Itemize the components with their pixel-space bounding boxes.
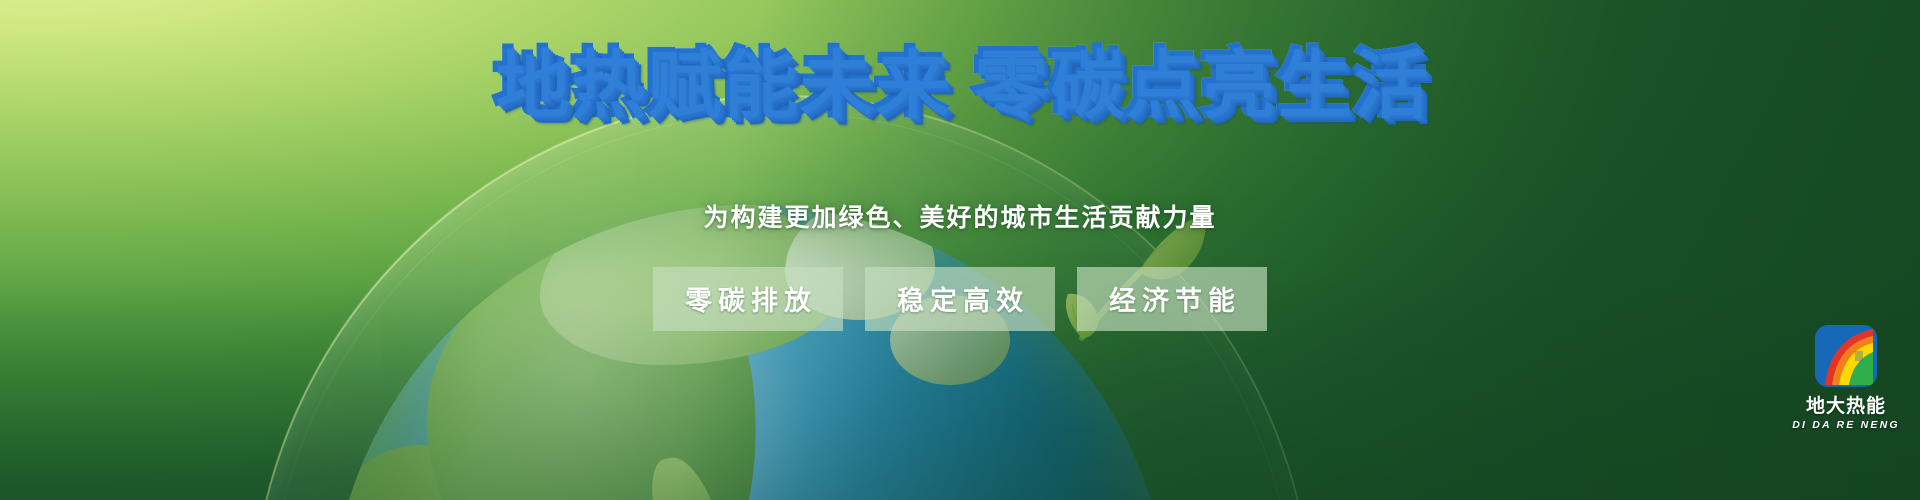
banner: 地热赋能未来 零碳点亮生活 为构建更加绿色、美好的城市生活贡献力量 零碳排放 稳… — [0, 0, 1920, 500]
page-subtitle: 为构建更加绿色、美好的城市生活贡献力量 — [0, 198, 1920, 234]
page-title: 地热赋能未来 零碳点亮生活 — [0, 46, 1920, 120]
logo-name-en: DI DA RE NENG — [1786, 419, 1906, 431]
company-logo[interactable]: 地大热能 DI DA RE NENG — [1786, 325, 1906, 453]
feature-tag[interactable]: 经济节能 — [1077, 267, 1267, 331]
logo-name-cn: 地大热能 — [1786, 391, 1906, 418]
feature-tag[interactable]: 零碳排放 — [653, 267, 843, 331]
page-title-text: 地热赋能未来 零碳点亮生活 — [493, 41, 1428, 124]
feature-tag-list: 零碳排放 稳定高效 经济节能 — [0, 267, 1920, 331]
logo-mark-icon — [1815, 325, 1877, 387]
feature-tag[interactable]: 稳定高效 — [865, 267, 1055, 331]
